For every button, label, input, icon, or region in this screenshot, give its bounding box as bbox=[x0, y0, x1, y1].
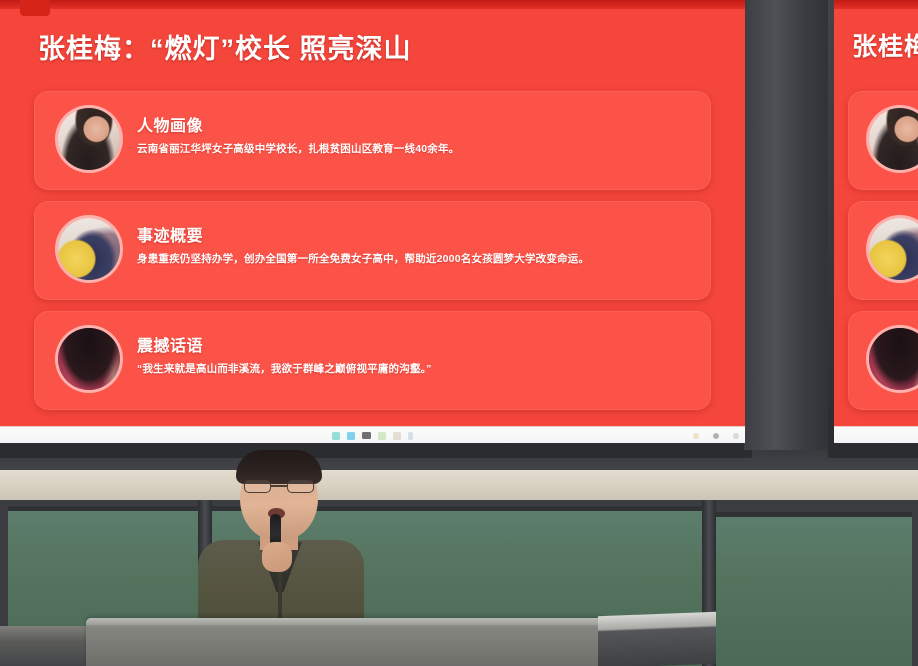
app-icon-1[interactable] bbox=[332, 432, 340, 440]
screenshot-stage: 张桂梅：“燃灯”校长 照亮深山 人物画像 云南省丽江华坪女子高级中学校长，扎根贫… bbox=[0, 0, 918, 666]
slide-card-deeds[interactable]: 事迹概要 身患重疾仍坚持办学，创办全国第一所全免费女子高中，帮助近2000名女孩… bbox=[34, 201, 711, 300]
avatar-image-3 bbox=[58, 328, 120, 390]
app-icon-4[interactable] bbox=[378, 432, 386, 440]
slide-title: 张桂梅：“燃灯”校长 照亮深山 bbox=[38, 27, 412, 66]
card-title-deeds: 事迹概要 bbox=[137, 222, 203, 246]
avatar-image-2-mirror bbox=[869, 218, 918, 280]
card-desc-quote: “我生来就是高山而非溪流，我欲于群峰之巅俯视平庸的沟壑。” bbox=[137, 362, 692, 377]
podium-left-section bbox=[0, 626, 94, 666]
app-icon-5[interactable] bbox=[393, 432, 401, 440]
app-icon-2[interactable] bbox=[347, 432, 355, 440]
group-photo-avatar bbox=[58, 218, 120, 280]
glasses-icon bbox=[244, 480, 314, 493]
avatar-image-3-mirror bbox=[869, 328, 918, 390]
slide-top-band-secondary bbox=[834, 0, 918, 9]
tray-icon-2[interactable] bbox=[713, 433, 719, 439]
card-title-quote: 震撼话语 bbox=[137, 332, 203, 356]
slide-card-quote[interactable]: 震撼话语 “我生来就是高山而非溪流，我欲于群峰之巅俯视平庸的沟壑。” bbox=[34, 311, 711, 410]
portrait-photo-avatar bbox=[58, 108, 120, 170]
slide-card-portrait-mirror[interactable] bbox=[848, 91, 918, 190]
windows-taskbar[interactable] bbox=[0, 426, 745, 443]
windows-taskbar-secondary[interactable] bbox=[834, 426, 918, 443]
projected-slide-secondary[interactable]: 张桂梅 bbox=[834, 0, 918, 443]
glasses-lens-right bbox=[287, 480, 314, 493]
card-desc-deeds: 身患重疾仍坚持办学，创办全国第一所全免费女子高中，帮助近2000名女孩圆梦大学改… bbox=[137, 252, 692, 267]
podium-top-surface bbox=[86, 618, 606, 625]
podium-right-section bbox=[598, 612, 716, 666]
tray-icon-3[interactable] bbox=[733, 433, 739, 439]
slide-title-secondary: 张桂梅 bbox=[852, 27, 918, 63]
ceremony-photo-avatar bbox=[58, 328, 120, 390]
avatar-image-1 bbox=[58, 108, 120, 170]
taskbar-app-icons[interactable] bbox=[332, 427, 413, 444]
taskbar-system-tray[interactable] bbox=[693, 427, 739, 444]
avatar-image-1-mirror bbox=[869, 108, 918, 170]
slide-top-band bbox=[0, 0, 745, 9]
slide-card-portrait[interactable]: 人物画像 云南省丽江华坪女子高级中学校长，扎根贫困山区教育一线40余年。 bbox=[34, 91, 711, 190]
slide-corner-tab bbox=[20, 0, 50, 16]
group-photo-avatar-mirror bbox=[869, 218, 918, 280]
glasses-lens-left bbox=[244, 480, 271, 493]
bezel-gap-column bbox=[744, 0, 832, 450]
glasses-bridge bbox=[271, 485, 287, 487]
presenter-hand bbox=[262, 542, 292, 572]
slide-card-deeds-mirror[interactable] bbox=[848, 201, 918, 300]
card-desc-portrait: 云南省丽江华坪女子高级中学校长，扎根贫困山区教育一线40余年。 bbox=[137, 142, 692, 157]
ceremony-photo-avatar-mirror bbox=[869, 328, 918, 390]
projected-slide-main[interactable]: 张桂梅：“燃灯”校长 照亮深山 人物画像 云南省丽江华坪女子高级中学校长，扎根贫… bbox=[0, 0, 745, 443]
tray-icon-1[interactable] bbox=[693, 433, 699, 439]
avatar-image-2 bbox=[58, 218, 120, 280]
card-title-portrait: 人物画像 bbox=[137, 112, 203, 136]
portrait-photo-avatar-mirror bbox=[869, 108, 918, 170]
presenter-hair bbox=[236, 450, 322, 484]
app-icon-6[interactable] bbox=[408, 432, 413, 440]
wall-beige-strip bbox=[0, 470, 918, 504]
podium-lectern bbox=[86, 618, 606, 666]
slide-card-quote-mirror[interactable] bbox=[848, 311, 918, 410]
chalkboard-panel-right bbox=[716, 512, 912, 666]
app-icon-3[interactable] bbox=[362, 432, 371, 439]
